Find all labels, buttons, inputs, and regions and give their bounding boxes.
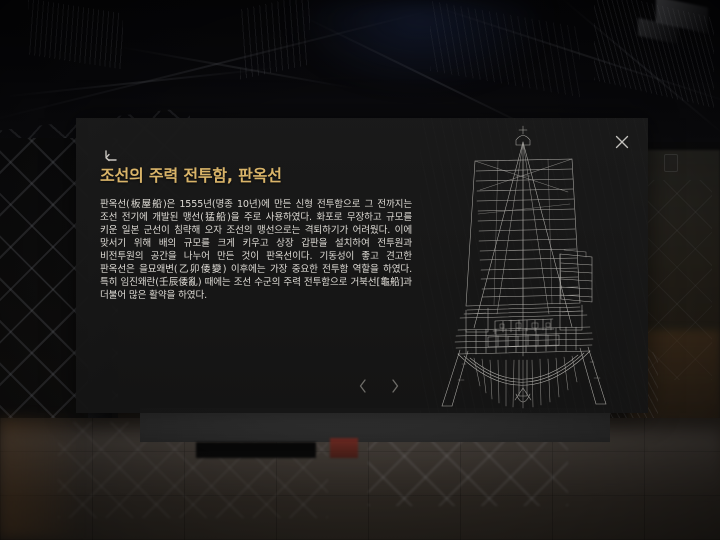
red-exhibit-object [330,438,358,458]
close-icon[interactable] [610,130,634,154]
page-title: 조선의 주력 전투함, 판옥선 [100,162,430,186]
chevron-left-icon[interactable] [354,376,372,396]
chevron-right-icon[interactable] [386,376,404,396]
illustration-background-texture [420,118,648,413]
panokseon-illustration [420,118,648,413]
exhibit-plinth [140,408,610,442]
panel-body-text: 판옥선(板屋船)은 1555년(명종 10년)에 만든 신형 전투함으로 그 전… [100,198,412,302]
panel-body-paragraph: 판옥선(板屋船)은 1555년(명종 10년)에 만든 신형 전투함으로 그 전… [100,198,412,302]
screenshot-stage: 조선의 주력 전투함, 판옥선 판옥선(板屋船)은 1555년(명종 10년)에… [0,0,720,540]
plinth-shadow [196,442,316,458]
info-panel: 조선의 주력 전투함, 판옥선 판옥선(板屋船)은 1555년(명종 10년)에… [76,118,648,413]
